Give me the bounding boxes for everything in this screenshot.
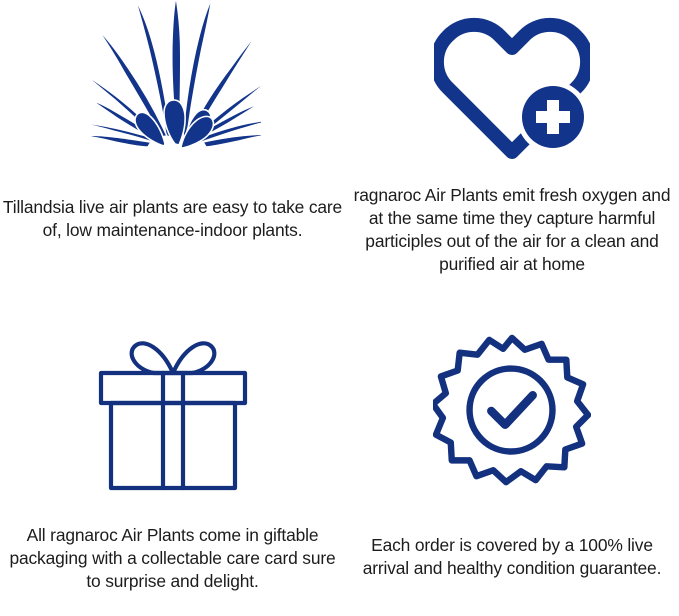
heart-plus-icon-wrap — [345, 0, 679, 170]
seal-starburst — [433, 338, 588, 482]
feature-card-fresh-oxygen: ragnaroc Air Plants emit fresh oxygen an… — [345, 0, 679, 308]
feature-card-giftable-packaging: All ragnaroc Air Plants come in giftable… — [0, 308, 345, 616]
gift-lid — [101, 373, 245, 403]
bow-loop-right — [173, 343, 214, 373]
checkmark-icon — [491, 395, 532, 425]
gift-body — [111, 403, 235, 488]
feature-card-live-arrival-guarantee: Each order is covered by a 100% live arr… — [345, 308, 679, 616]
air-plant-icon — [91, 0, 261, 148]
guarantee-badge-icon — [433, 332, 591, 490]
feature-caption: All ragnaroc Air Plants come in giftable… — [0, 524, 345, 593]
gift-box-icon — [92, 330, 254, 492]
air-plant-icon-wrap — [0, 0, 345, 170]
feature-card-air-plant-care: Tillandsia live air plants are easy to t… — [0, 0, 345, 308]
gift-box-icon-wrap — [0, 308, 345, 508]
feature-caption: Tillandsia live air plants are easy to t… — [0, 196, 345, 242]
feature-caption: ragnaroc Air Plants emit fresh oxygen an… — [345, 184, 679, 276]
heart-plus-icon — [434, 14, 590, 160]
seal-inner-circle — [470, 369, 553, 452]
feature-caption: Each order is covered by a 100% live arr… — [345, 534, 679, 580]
guarantee-badge-icon-wrap — [345, 308, 679, 508]
bow-loop-left — [131, 343, 172, 373]
feature-grid: Tillandsia live air plants are easy to t… — [0, 0, 679, 616]
